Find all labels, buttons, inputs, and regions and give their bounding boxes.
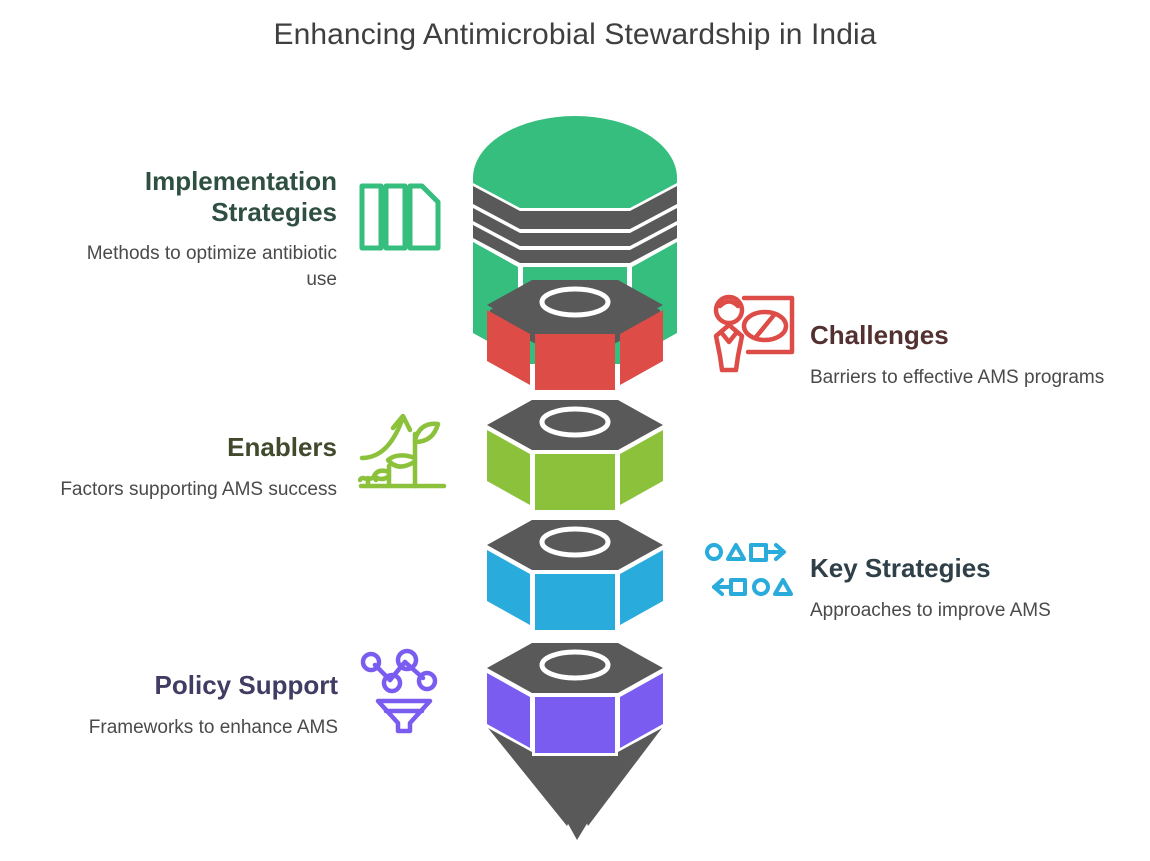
section-heading-enablers: Enablers [55, 432, 337, 463]
section-policy-support: Policy Support Frameworks to enhance AMS [18, 670, 338, 740]
section-description-policysupport: Frameworks to enhance AMS [18, 715, 338, 741]
infographic-canvas: Enhancing Antimicrobial Stewardship in I… [0, 0, 1150, 861]
section-heading-keystrategies: Key Strategies [810, 553, 1130, 584]
shapes-arrows-icon [703, 537, 795, 608]
section-description-challenges: Barriers to effective AMS programs [810, 365, 1110, 391]
funnel-layer-policysupport [487, 643, 663, 753]
section-heading-implementation: Implementation Strategies [55, 166, 337, 227]
section-description-implementation: Methods to optimize antibiotic use [55, 241, 337, 292]
funnel-layer-keystrategies [487, 520, 663, 630]
section-description-keystrategies: Approaches to improve AMS [810, 598, 1130, 624]
section-description-enablers: Factors supporting AMS success [55, 477, 337, 503]
funnel-layer-challenges [487, 280, 663, 390]
section-heading-policysupport: Policy Support [18, 670, 338, 701]
section-key-strategies: Key Strategies Approaches to improve AMS [810, 553, 1130, 623]
books-shelf-icon [358, 172, 446, 265]
page-title: Enhancing Antimicrobial Stewardship in I… [0, 18, 1150, 52]
growing-plants-icon [358, 402, 450, 499]
person-presentation-icon [708, 292, 800, 381]
section-challenges: Challenges Barriers to effective AMS pro… [810, 320, 1110, 390]
funnel-diagram [470, 80, 680, 845]
network-funnel-icon [358, 643, 450, 740]
section-heading-challenges: Challenges [810, 320, 1110, 351]
funnel-layer-enablers [487, 400, 663, 510]
section-implementation-strategies: Implementation Strategies Methods to opt… [55, 166, 337, 293]
section-enablers: Enablers Factors supporting AMS success [55, 432, 337, 502]
